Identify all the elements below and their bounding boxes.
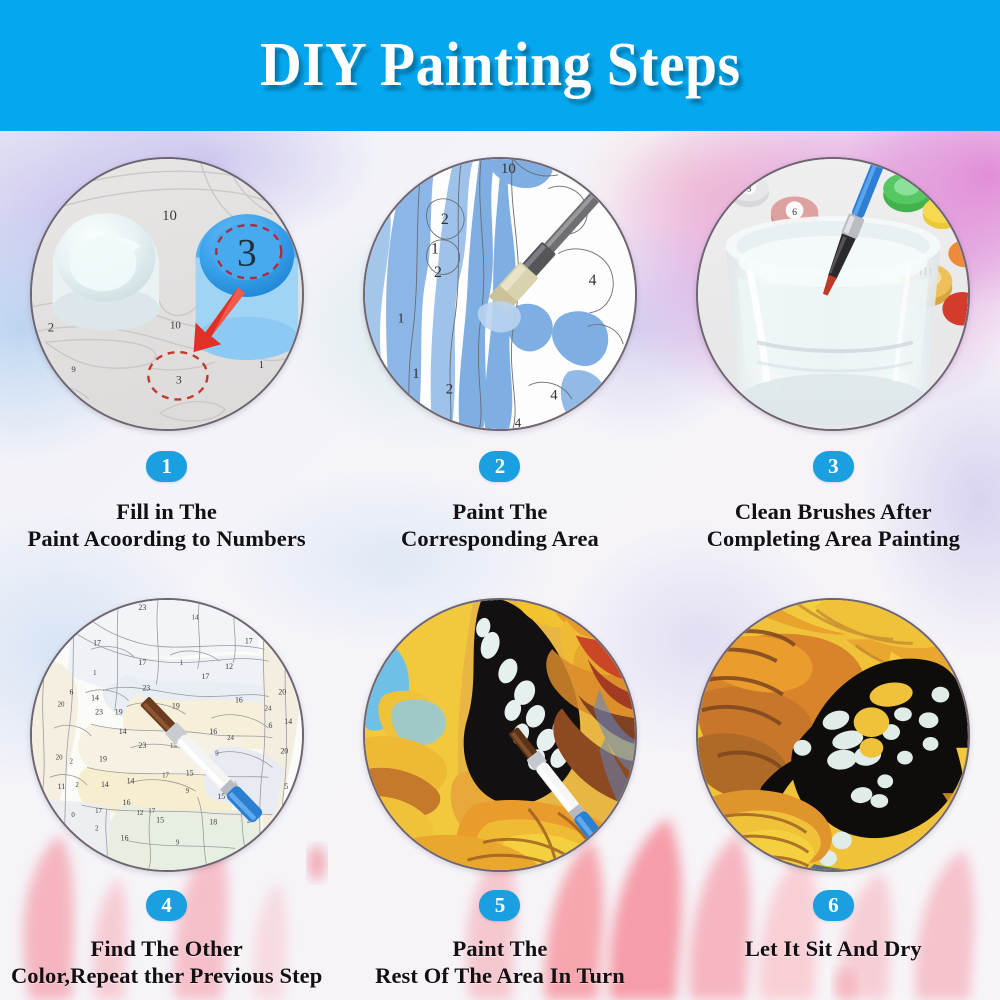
step-card-4: 2314 17171 171217 11416 23191923 142316 … (0, 566, 333, 1000)
svg-text:12: 12 (136, 809, 143, 816)
step-image-paint-pots: 10 2 10 1 3 9 (30, 157, 304, 431)
svg-text:10: 10 (170, 319, 181, 331)
svg-text:10: 10 (162, 208, 177, 224)
step-image-butterfly-wing-left (363, 598, 637, 872)
svg-text:2: 2 (446, 382, 453, 398)
svg-text:2: 2 (434, 264, 442, 281)
svg-text:11: 11 (57, 782, 65, 791)
svg-text:20: 20 (280, 746, 288, 755)
svg-text:3: 3 (237, 230, 257, 274)
svg-text:1: 1 (179, 660, 183, 667)
svg-text:16: 16 (235, 695, 243, 704)
svg-text:17: 17 (245, 636, 253, 645)
svg-text:14: 14 (126, 776, 134, 785)
svg-text:23: 23 (138, 740, 146, 749)
step-caption-1: Fill in The Paint Acoording to Numbers (28, 498, 306, 552)
step-card-1: 10 2 10 1 3 9 (0, 131, 333, 566)
step-caption-3: Clean Brushes After Completing Area Pain… (707, 498, 960, 552)
step-card-6: 6 Let It Sit And Dry (667, 566, 1000, 1000)
svg-text:1: 1 (431, 241, 439, 258)
svg-text:19: 19 (172, 701, 180, 710)
step-badge-2: 2 (479, 451, 520, 482)
svg-text:17: 17 (93, 638, 101, 647)
svg-text:3: 3 (747, 184, 752, 194)
step-caption-2: Paint The Corresponding Area (401, 498, 599, 552)
step-badge-1: 1 (146, 451, 187, 482)
svg-text:14: 14 (191, 614, 198, 621)
svg-text:2: 2 (47, 320, 53, 334)
svg-text:12: 12 (225, 661, 233, 670)
svg-text:16: 16 (209, 727, 217, 736)
header-banner: DIY Painting Steps (0, 0, 1000, 131)
step-caption-6: Let It Sit And Dry (745, 935, 922, 962)
svg-text:14: 14 (101, 780, 109, 789)
step-caption-4: Find The Other Color,Repeat ther Previou… (11, 935, 322, 989)
step-card-3: 3 6 (667, 131, 1000, 566)
page-title: DIY Painting Steps (260, 30, 740, 101)
step-badge-4: 4 (146, 890, 187, 921)
step-badge-3: 3 (813, 451, 854, 482)
svg-text:4: 4 (589, 272, 597, 289)
svg-text:14: 14 (91, 693, 99, 702)
svg-text:14: 14 (118, 727, 126, 736)
step-image-butterfly-wing-finished (696, 598, 970, 872)
svg-text:19: 19 (99, 754, 107, 763)
svg-text:9: 9 (71, 364, 76, 374)
svg-text:20: 20 (55, 754, 62, 761)
step-caption-5: Paint The Rest Of The Area In Turn (375, 935, 625, 989)
svg-text:23: 23 (95, 707, 103, 716)
step-image-brush-rinse: 3 6 (696, 157, 970, 431)
svg-text:17: 17 (148, 807, 155, 814)
svg-text:14: 14 (284, 717, 292, 726)
svg-text:6: 6 (69, 687, 73, 696)
step-card-5: 5 Paint The Rest Of The Area In Turn (333, 566, 666, 1000)
svg-text:6: 6 (268, 721, 272, 730)
svg-text:16: 16 (122, 797, 130, 806)
svg-text:2: 2 (75, 782, 79, 789)
svg-text:23: 23 (138, 602, 146, 611)
svg-text:1: 1 (398, 311, 405, 326)
svg-text:4: 4 (515, 416, 522, 429)
svg-text:2: 2 (95, 825, 99, 832)
steps-grid: 10 2 10 1 3 9 (0, 131, 1000, 1000)
svg-text:15: 15 (156, 815, 164, 824)
svg-text:3: 3 (176, 373, 182, 387)
svg-text:20: 20 (278, 687, 286, 696)
svg-text:2: 2 (69, 758, 73, 765)
svg-text:9: 9 (185, 788, 189, 795)
svg-text:5: 5 (284, 782, 288, 791)
svg-text:15: 15 (185, 768, 193, 777)
svg-text:1: 1 (258, 359, 263, 371)
svg-text:10: 10 (501, 161, 516, 177)
svg-text:0: 0 (71, 811, 75, 818)
svg-text:17: 17 (95, 807, 102, 814)
step-badge-5: 5 (479, 890, 520, 921)
svg-text:24: 24 (264, 705, 271, 712)
step-image-numbered-canvas: 2314 17171 171217 11416 23191923 142316 … (30, 598, 304, 872)
svg-text:1: 1 (93, 669, 97, 676)
svg-text:4: 4 (550, 387, 558, 403)
step-badge-6: 6 (813, 890, 854, 921)
step-image-blue-stroke: 10 2 1 2 1 1 2 0 4 4 4 (363, 157, 637, 431)
svg-text:17: 17 (201, 671, 209, 680)
svg-text:9: 9 (176, 839, 180, 846)
svg-text:2: 2 (441, 211, 449, 228)
svg-text:18: 18 (209, 817, 217, 826)
svg-text:20: 20 (57, 701, 64, 708)
svg-text:1: 1 (412, 366, 419, 382)
svg-text:6: 6 (792, 207, 797, 218)
svg-text:24: 24 (227, 734, 234, 741)
svg-text:19: 19 (114, 707, 122, 716)
svg-text:23: 23 (142, 683, 150, 692)
svg-text:17: 17 (162, 772, 169, 779)
svg-text:17: 17 (138, 658, 146, 667)
svg-text:9: 9 (215, 750, 219, 757)
step-card-2: 10 2 1 2 1 1 2 0 4 4 4 (333, 131, 666, 566)
svg-text:16: 16 (120, 833, 128, 842)
